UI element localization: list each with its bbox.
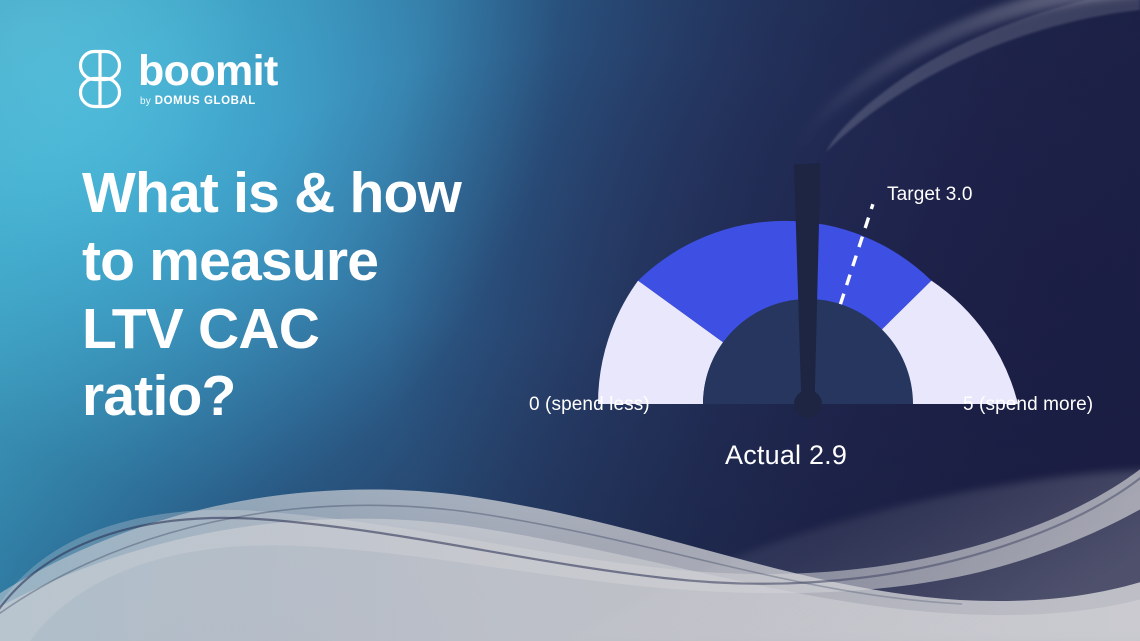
page-title: What is & how to measure LTV CAC ratio? bbox=[82, 160, 552, 431]
graphic-canvas: boomit by DOMUS GLOBAL What is & how to … bbox=[0, 0, 1140, 641]
brand-logo[interactable]: boomit by DOMUS GLOBAL bbox=[76, 48, 278, 110]
headline-line-3: LTV CAC bbox=[82, 296, 552, 364]
gauge-target-label: Target 3.0 bbox=[887, 184, 973, 206]
headline-line-2: to measure bbox=[82, 228, 552, 296]
brand-name: boomit bbox=[138, 51, 278, 92]
gauge-chart: 0 (spend less) 5 (spend more) Target 3.0… bbox=[520, 118, 1120, 518]
brand-tagline-company: DOMUS GLOBAL bbox=[155, 95, 256, 107]
gauge-actual-label: Actual 2.9 bbox=[725, 440, 847, 471]
gauge-min-label: 0 (spend less) bbox=[529, 394, 650, 416]
gauge-needle-hub bbox=[794, 390, 822, 418]
gauge-max-label: 5 (spend more) bbox=[963, 394, 1093, 416]
boomit-infinity-icon bbox=[76, 48, 124, 110]
brand-tagline: by DOMUS GLOBAL bbox=[140, 95, 278, 107]
headline-line-1: What is & how bbox=[82, 160, 552, 228]
headline-line-4: ratio? bbox=[82, 363, 552, 431]
brand-tagline-by: by bbox=[140, 96, 151, 107]
